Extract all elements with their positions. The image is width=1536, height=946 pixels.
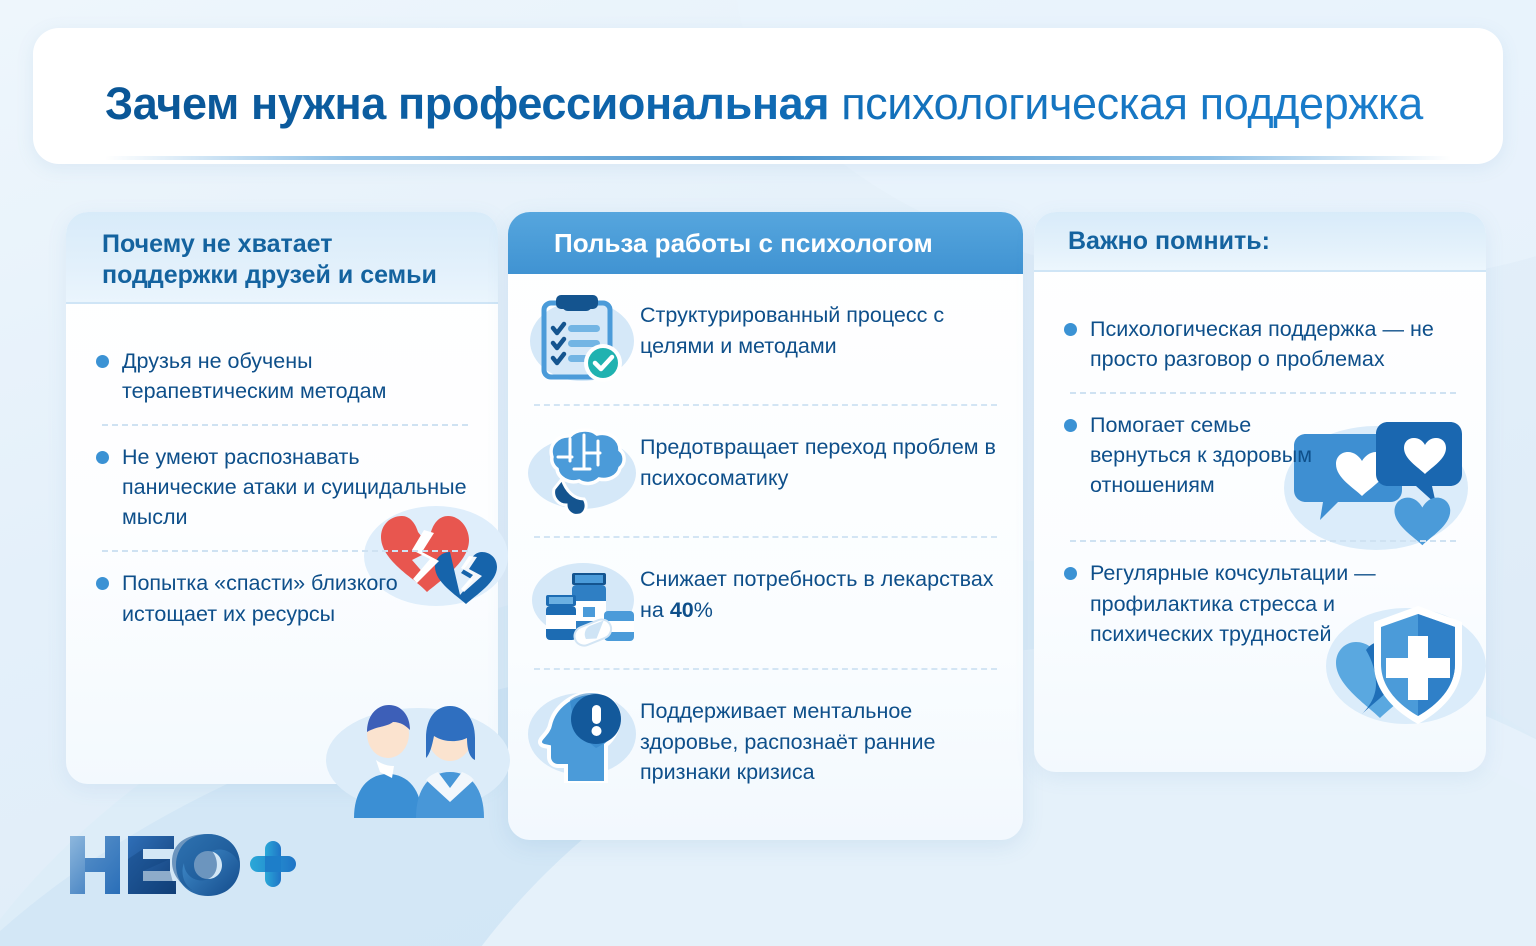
list-item: Помогает семье вернуться к здоровым отно…	[1064, 394, 1462, 540]
infographic-page: Зачем нужна профессиональная психологиче…	[0, 0, 1536, 946]
middle-column-header: Польза работы с психологом	[508, 212, 1023, 274]
bullet-dot-icon	[96, 451, 109, 464]
list-item: Не умеют распознавать панические атаки и…	[96, 426, 474, 550]
head-exclamation-icon	[528, 687, 640, 783]
brain-icon	[528, 423, 640, 519]
list-item: Попытка «спасти» близкого истощает их ре…	[96, 552, 474, 646]
right-column-heading: Важно помнить:	[1068, 227, 1270, 256]
right-bullet-list: Психологическая поддержка — не просто ра…	[1034, 272, 1486, 667]
title-card: Зачем нужна профессиональная психологиче…	[33, 28, 1503, 164]
list-item: Регулярные кочсультации — профилактика с…	[1064, 542, 1462, 666]
bullet-dot-icon	[96, 577, 109, 590]
column-benefits-of-psychologist: Польза работы с психологом	[508, 212, 1023, 840]
benefit-highlight-value: 40	[670, 598, 694, 622]
list-item-label: Попытка «спасти» близкого истощает их ре…	[122, 568, 474, 628]
benefit-item-structured-process: Структурированный процесс с целями и мет…	[508, 274, 1023, 404]
right-column-header: Важно помнить:	[1034, 212, 1486, 272]
benefit-item-prevents-psychosomatics: Предотвращает переход проблем в психосом…	[508, 406, 1023, 536]
list-item-label: Психологическая поддержка — не просто ра…	[1090, 314, 1462, 374]
bullet-dot-icon	[96, 355, 109, 368]
clipboard-checklist-icon	[528, 291, 640, 387]
bullet-dot-icon	[1064, 567, 1077, 580]
list-item-label: Помогает семье вернуться к здоровым отно…	[1090, 410, 1340, 500]
list-item: Психологическая поддержка — не просто ра…	[1064, 298, 1462, 392]
column-why-friends-not-enough: Почему не хватает поддержки друзей и сем…	[66, 212, 498, 784]
list-item-label: Регулярные кочсультации — профилактика с…	[1090, 558, 1390, 648]
bullet-dot-icon	[1064, 323, 1077, 336]
list-item-label: Друзья не обучены терапевтическим метода…	[122, 346, 474, 406]
benefit-label: Структурированный процесс с целями и мет…	[640, 291, 1001, 361]
benefit-item-mental-health: Поддерживает ментальное здоровье, распоз…	[508, 670, 1023, 805]
benefit-label: Снижает потребность в лекарствах на 40%	[640, 555, 1001, 625]
benefit-label: Поддерживает ментальное здоровье, распоз…	[640, 687, 1001, 788]
benefit-item-less-medication: Снижает потребность в лекарствах на 40%	[508, 538, 1023, 668]
bullet-dot-icon	[1064, 419, 1077, 432]
left-column-heading: Почему не хватает поддержки друзей и сем…	[102, 229, 468, 291]
page-title: Зачем нужна профессиональная психологиче…	[105, 78, 1445, 130]
page-title-bold: Зачем нужна профессиональная	[105, 78, 841, 129]
benefit-label: Предотвращает переход проблем в психосом…	[640, 423, 1001, 493]
left-column-header: Почему не хватает поддержки друзей и сем…	[66, 212, 498, 304]
neo-plus-logo	[68, 832, 298, 898]
middle-column-heading: Польза работы с психологом	[554, 228, 933, 259]
benefit-label-after: %	[694, 598, 713, 622]
left-bullet-list: Друзья не обучены терапевтическим метода…	[66, 304, 498, 647]
medication-bottles-icon	[528, 555, 640, 651]
title-underline	[105, 156, 1451, 160]
page-title-light: психологическая поддержка	[841, 78, 1423, 129]
list-item: Друзья не обучены терапевтическим метода…	[96, 330, 474, 424]
list-item-label: Не умеют распознавать панические атаки и…	[122, 442, 474, 532]
column-important-to-remember: Важно помнить: Психологическая поддержка…	[1034, 212, 1486, 772]
